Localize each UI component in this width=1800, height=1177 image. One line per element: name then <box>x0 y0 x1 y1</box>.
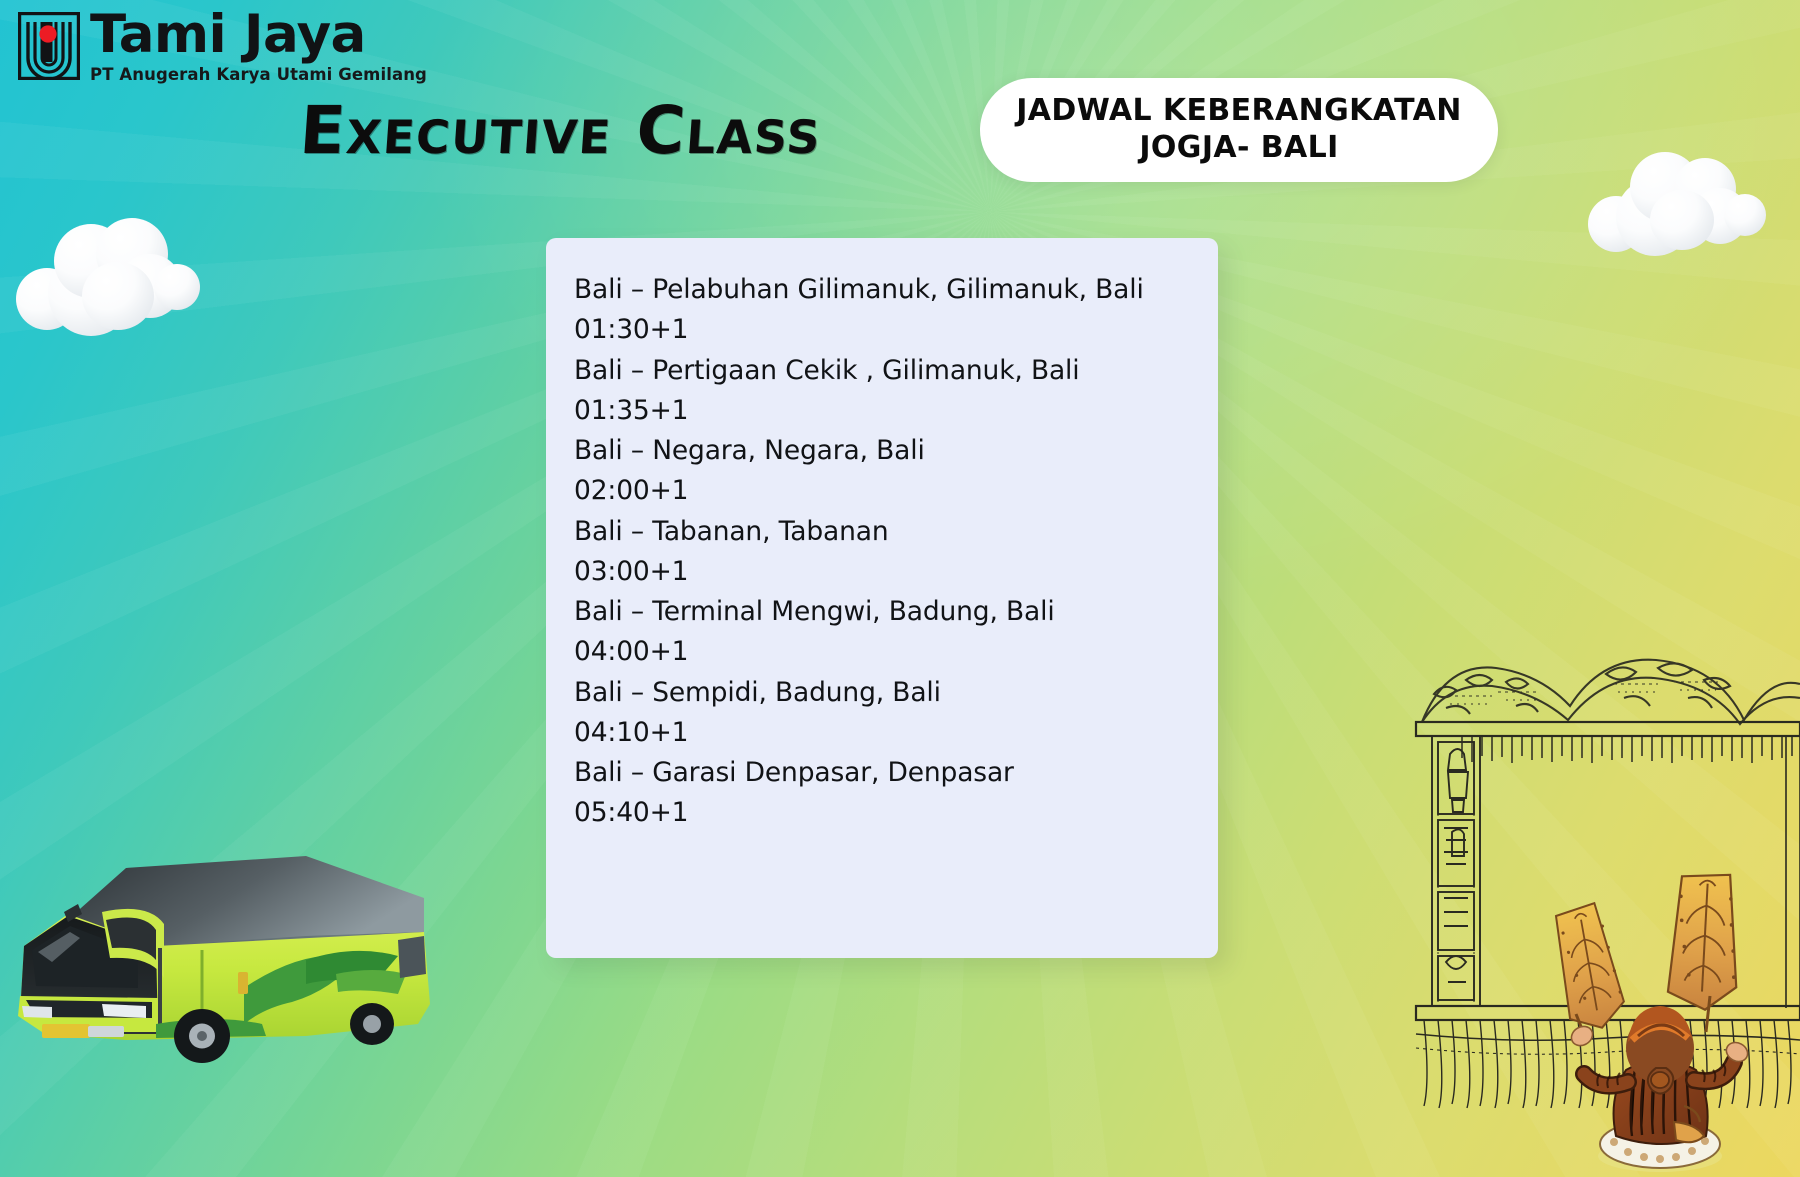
brand-tagline: PT Anugerah Karya Utami Gemilang <box>90 65 427 84</box>
schedule-stop-name: Bali – Garasi Denpasar, Denpasar <box>574 753 1188 793</box>
schedule-row: Bali – Sempidi, Badung, Bali04:10+1 <box>574 673 1188 754</box>
brand-logo: Tami Jaya PT Anugerah Karya Utami Gemila… <box>18 8 427 84</box>
route-badge-line-1: JADWAL KEBERANGKATAN <box>1016 92 1462 130</box>
route-badge: JADWAL KEBERANGKATAN JOGJA- BALI <box>980 78 1498 182</box>
schedule-stop-time: 04:10+1 <box>574 713 1188 753</box>
wayang-kulit-illustration-icon <box>1388 636 1800 1177</box>
schedule-panel: Bali – Pelabuhan Gilimanuk, Gilimanuk, B… <box>546 238 1218 958</box>
schedule-stop-time: 01:30+1 <box>574 310 1188 350</box>
schedule-stop-time: 05:40+1 <box>574 793 1188 833</box>
brand-name: Tami Jaya <box>90 8 427 61</box>
schedule-stop-name: Bali – Sempidi, Badung, Bali <box>574 673 1188 713</box>
schedule-stop-time: 04:00+1 <box>574 632 1188 672</box>
schedule-row: Bali – Pelabuhan Gilimanuk, Gilimanuk, B… <box>574 270 1188 351</box>
schedule-stop-time: 02:00+1 <box>574 471 1188 511</box>
tami-jaya-logo-icon <box>18 12 80 80</box>
poster-canvas: Tami Jaya PT Anugerah Karya Utami Gemila… <box>0 0 1800 1177</box>
schedule-stop-name: Bali – Negara, Negara, Bali <box>574 431 1188 471</box>
schedule-stop-name: Bali – Pelabuhan Gilimanuk, Gilimanuk, B… <box>574 270 1188 310</box>
schedule-list: Bali – Pelabuhan Gilimanuk, Gilimanuk, B… <box>574 270 1188 834</box>
bus-photo-icon <box>6 828 446 1088</box>
schedule-row: Bali – Terminal Mengwi, Badung, Bali04:0… <box>574 592 1188 673</box>
route-badge-line-2: JOGJA- BALI <box>1139 129 1338 167</box>
schedule-stop-time: 03:00+1 <box>574 552 1188 592</box>
schedule-stop-name: Bali – Pertigaan Cekik , Gilimanuk, Bali <box>574 351 1188 391</box>
page-title: Executive Class <box>297 92 824 169</box>
schedule-row: Bali – Garasi Denpasar, Denpasar05:40+1 <box>574 753 1188 834</box>
schedule-stop-time: 01:35+1 <box>574 391 1188 431</box>
schedule-stop-name: Bali – Terminal Mengwi, Badung, Bali <box>574 592 1188 632</box>
schedule-row: Bali – Tabanan, Tabanan03:00+1 <box>574 512 1188 593</box>
schedule-row: Bali – Negara, Negara, Bali02:00+1 <box>574 431 1188 512</box>
schedule-row: Bali – Pertigaan Cekik , Gilimanuk, Bali… <box>574 351 1188 432</box>
schedule-stop-name: Bali – Tabanan, Tabanan <box>574 512 1188 552</box>
